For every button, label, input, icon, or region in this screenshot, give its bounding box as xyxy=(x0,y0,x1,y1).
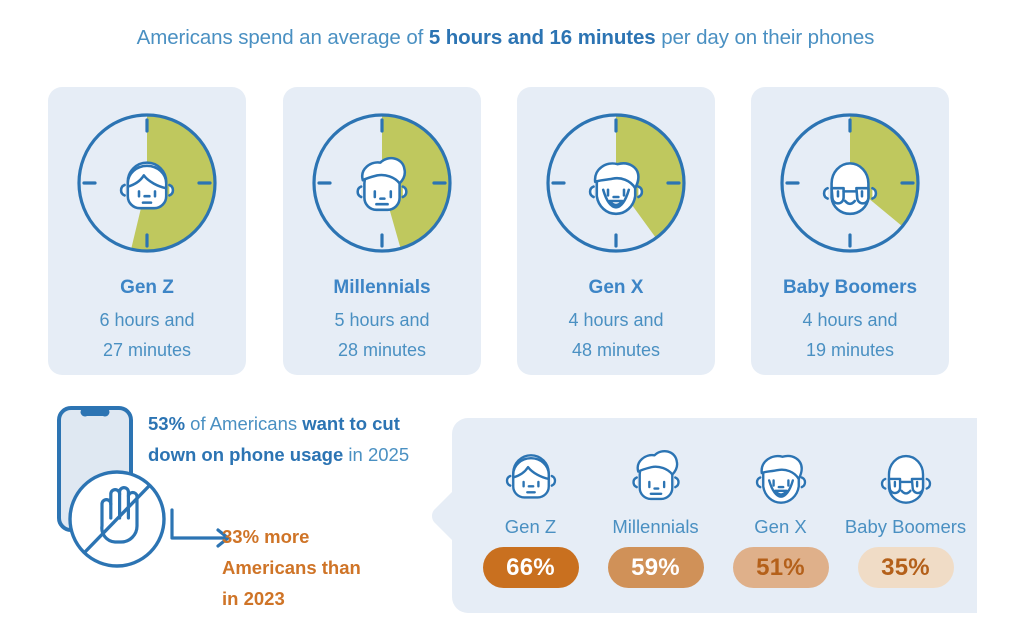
stat-card-gen-z: Gen Z 6 hours and 27 minutes xyxy=(48,87,246,375)
infographic-root: Americans spend an average of 5 hours an… xyxy=(0,0,1011,638)
face-millennials-icon xyxy=(619,432,693,514)
face-gen-x-icon xyxy=(744,432,818,514)
card-title: Gen Z xyxy=(48,277,246,299)
panel-item-label: Gen X xyxy=(754,516,806,538)
percent-badge: 51% xyxy=(733,547,829,588)
percent-badge: 35% xyxy=(858,547,954,588)
stat-percent: 53% xyxy=(148,413,185,434)
card-subtitle: 4 hours and 19 minutes xyxy=(751,305,949,365)
comparison-line-3: in 2023 xyxy=(222,583,422,614)
stat-tail: in 2025 xyxy=(343,444,409,465)
card-title: Gen X xyxy=(517,277,715,299)
headline-emphasis: 5 hours and 16 minutes xyxy=(429,26,656,49)
stat-mid: of Americans xyxy=(185,413,302,434)
card-subtitle: 4 hours and 48 minutes xyxy=(517,305,715,365)
clock-millennials-icon xyxy=(302,103,462,263)
face-gen-z-icon xyxy=(494,432,568,514)
percent-badge: 66% xyxy=(483,547,579,588)
card-sub-line2: 48 minutes xyxy=(517,335,715,365)
card-sub-line1: 5 hours and xyxy=(283,305,481,335)
card-sub-line2: 27 minutes xyxy=(48,335,246,365)
card-sub-line2: 19 minutes xyxy=(751,335,949,365)
panel-item-label: Millennials xyxy=(612,516,698,538)
comparison-line-1: 33% more xyxy=(222,521,422,552)
clock-gen-x-icon xyxy=(536,103,696,263)
face-baby-boomers-icon xyxy=(869,432,943,514)
card-sub-line1: 4 hours and xyxy=(517,305,715,335)
panel-item-gen-z: Gen Z 66% xyxy=(468,432,593,588)
card-title: Baby Boomers xyxy=(751,277,949,299)
page-title: Americans spend an average of 5 hours an… xyxy=(0,26,1011,50)
clock-gen-z-icon xyxy=(67,103,227,263)
card-sub-line2: 28 minutes xyxy=(283,335,481,365)
headline-after: per day on their phones xyxy=(656,26,875,49)
panel-item-baby-boomers: Baby Boomers 35% xyxy=(843,432,968,588)
panel-item-label: Gen Z xyxy=(505,516,556,538)
panel-columns: Gen Z 66% Millennials 59% Gen X 51% Ba xyxy=(468,432,968,602)
panel-item-gen-x: Gen X 51% xyxy=(718,432,843,588)
card-subtitle: 5 hours and 28 minutes xyxy=(283,305,481,365)
percent-badge: 59% xyxy=(608,547,704,588)
cut-down-statement: 53% of Americans want to cut down on pho… xyxy=(148,408,416,470)
headline-before: Americans spend an average of xyxy=(137,26,429,49)
comparison-statement: 33% more Americans than in 2023 xyxy=(222,521,422,614)
card-sub-line1: 6 hours and xyxy=(48,305,246,335)
panel-item-label: Baby Boomers xyxy=(845,516,966,538)
card-sub-line1: 4 hours and xyxy=(751,305,949,335)
card-title: Millennials xyxy=(283,277,481,299)
card-subtitle: 6 hours and 27 minutes xyxy=(48,305,246,365)
stat-card-baby-boomers: Baby Boomers 4 hours and 19 minutes xyxy=(751,87,949,375)
stat-card-millennials: Millennials 5 hours and 28 minutes xyxy=(283,87,481,375)
panel-item-millennials: Millennials 59% xyxy=(593,432,718,588)
comparison-line-2: Americans than xyxy=(222,552,422,583)
clock-baby-boomers-icon xyxy=(770,103,930,263)
stat-card-gen-x: Gen X 4 hours and 48 minutes xyxy=(517,87,715,375)
generation-percent-panel: Gen Z 66% Millennials 59% Gen X 51% Ba xyxy=(432,418,977,613)
